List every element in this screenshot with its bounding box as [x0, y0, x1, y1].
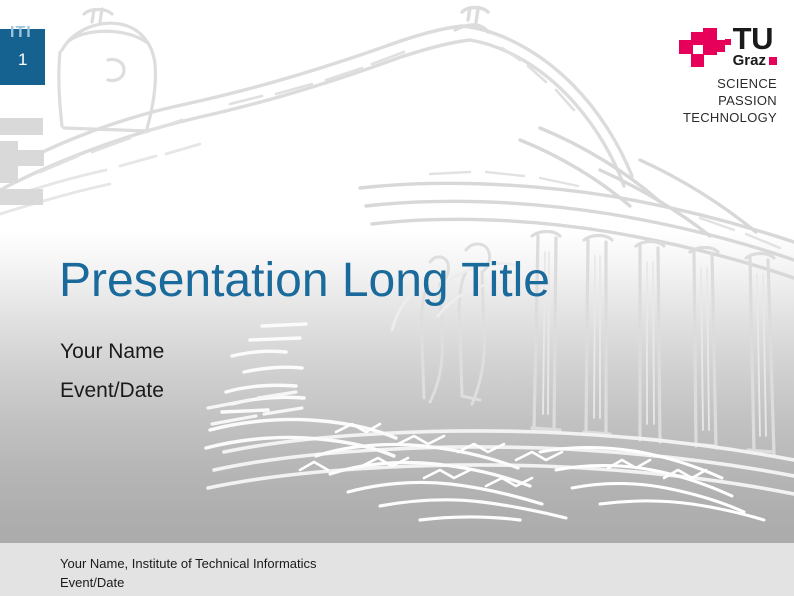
logo-text-block: TU Graz: [733, 24, 777, 68]
slide-title: Presentation Long Title: [59, 253, 550, 309]
logo-name-sub: Graz: [733, 53, 766, 68]
presentation-title-slide: ITI 1 TU Graz: [0, 0, 794, 596]
decor-bar-3: [18, 150, 44, 166]
decor-bar-2: [0, 141, 18, 183]
slide-footer: Your Name, Institute of Technical Inform…: [60, 554, 317, 592]
slide-event-date: Event/Date: [60, 377, 164, 405]
footer-line-1: Your Name, Institute of Technical Inform…: [60, 554, 317, 573]
slide-number: 1: [18, 51, 27, 69]
logo-accent-square-icon: [769, 57, 777, 65]
tu-graz-logo: TU Graz SCIENCE PASSION TECHNOLOGY: [657, 22, 777, 126]
logo-claim-line-2: PASSION: [657, 92, 777, 109]
decor-bar-4: [0, 189, 43, 205]
institute-slide-badge: ITI 1: [0, 29, 45, 85]
logo-claim-line-1: SCIENCE: [657, 75, 777, 92]
institute-abbr-label: ITI: [10, 25, 32, 41]
logo-claim: SCIENCE PASSION TECHNOLOGY: [657, 75, 777, 126]
decor-bar-1: [0, 118, 43, 135]
logo-name-main: TU: [733, 24, 777, 53]
logo-claim-line-3: TECHNOLOGY: [657, 109, 777, 126]
footer-line-2: Event/Date: [60, 573, 317, 592]
logo-wordmark-row: TU Graz: [657, 22, 777, 68]
slide-author: Your Name: [60, 338, 164, 366]
tu-graz-mark-icon: [679, 28, 731, 68]
